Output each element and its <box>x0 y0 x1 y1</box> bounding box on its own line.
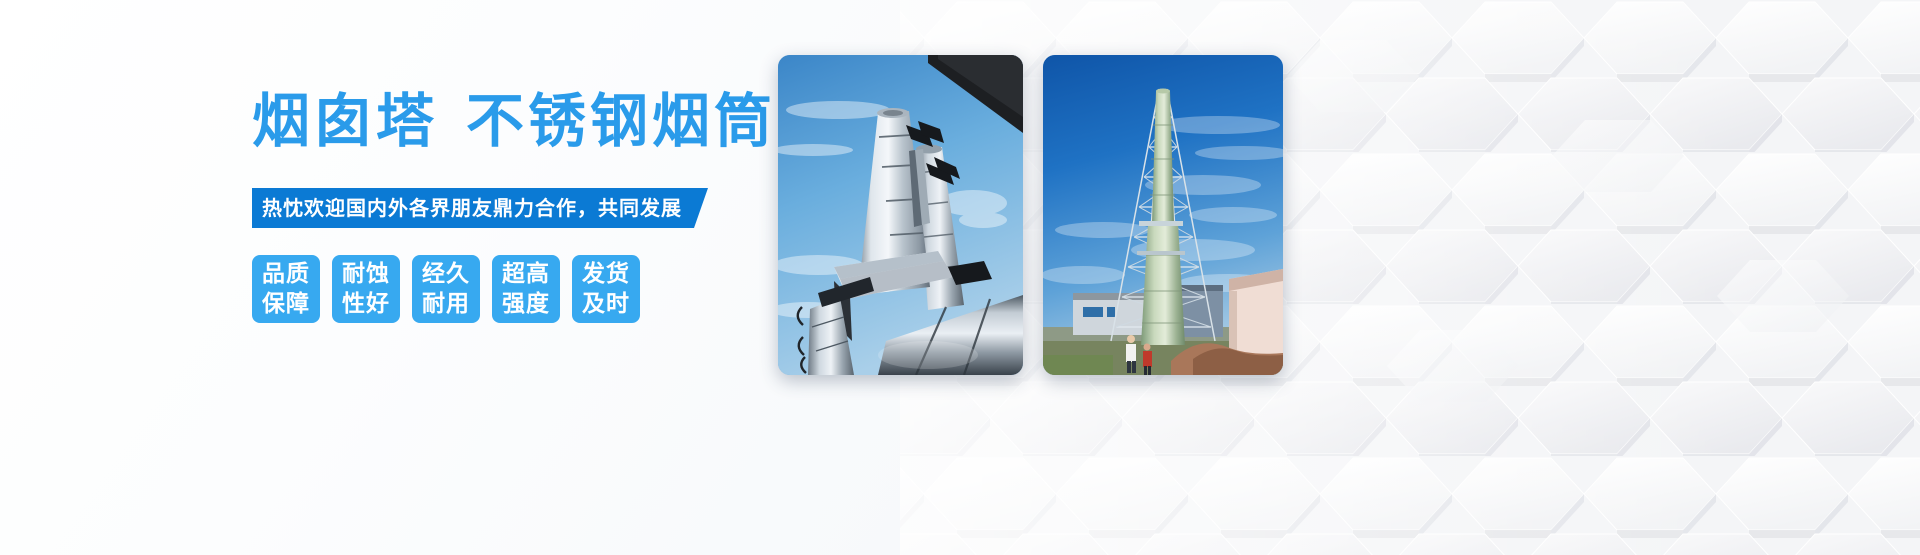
feature-badge[interactable]: 超高 强度 <box>492 255 560 323</box>
feature-badge[interactable]: 耐蚀 性好 <box>332 255 400 323</box>
badge-line-2: 强度 <box>502 289 550 319</box>
feature-badge[interactable]: 发货 及时 <box>572 255 640 323</box>
product-photo-chimney-tower[interactable] <box>1043 55 1283 375</box>
feature-badge-list: 品质 保障 耐蚀 性好 经久 耐用 超高 强度 发货 及时 <box>252 255 640 323</box>
feature-badge[interactable]: 经久 耐用 <box>412 255 480 323</box>
badge-line-1: 品质 <box>262 259 310 289</box>
promo-banner: 烟囱塔不锈钢烟筒 热忱欢迎国内外各界朋友鼎力合作，共同发展 品质 保障 耐蚀 性… <box>0 0 1920 555</box>
badge-line-2: 保障 <box>262 289 310 319</box>
banner-subtitle: 热忱欢迎国内外各界朋友鼎力合作，共同发展 <box>252 188 708 228</box>
product-photo-stainless-chimney[interactable] <box>778 55 1023 375</box>
feature-badge[interactable]: 品质 保障 <box>252 255 320 323</box>
badge-line-1: 发货 <box>582 259 630 289</box>
badge-line-2: 性好 <box>342 289 390 319</box>
badge-line-1: 超高 <box>502 259 550 289</box>
badge-line-1: 耐蚀 <box>342 259 390 289</box>
headline-part-1: 烟囱塔 <box>252 87 438 155</box>
banner-headline: 烟囱塔不锈钢烟筒 <box>252 92 776 150</box>
badge-line-2: 及时 <box>582 289 630 319</box>
headline-part-2: 不锈钢烟筒 <box>466 87 776 155</box>
banner-subtitle-wrapper: 热忱欢迎国内外各界朋友鼎力合作，共同发展 <box>252 188 708 228</box>
badge-line-2: 耐用 <box>422 289 470 319</box>
badge-line-1: 经久 <box>422 259 470 289</box>
